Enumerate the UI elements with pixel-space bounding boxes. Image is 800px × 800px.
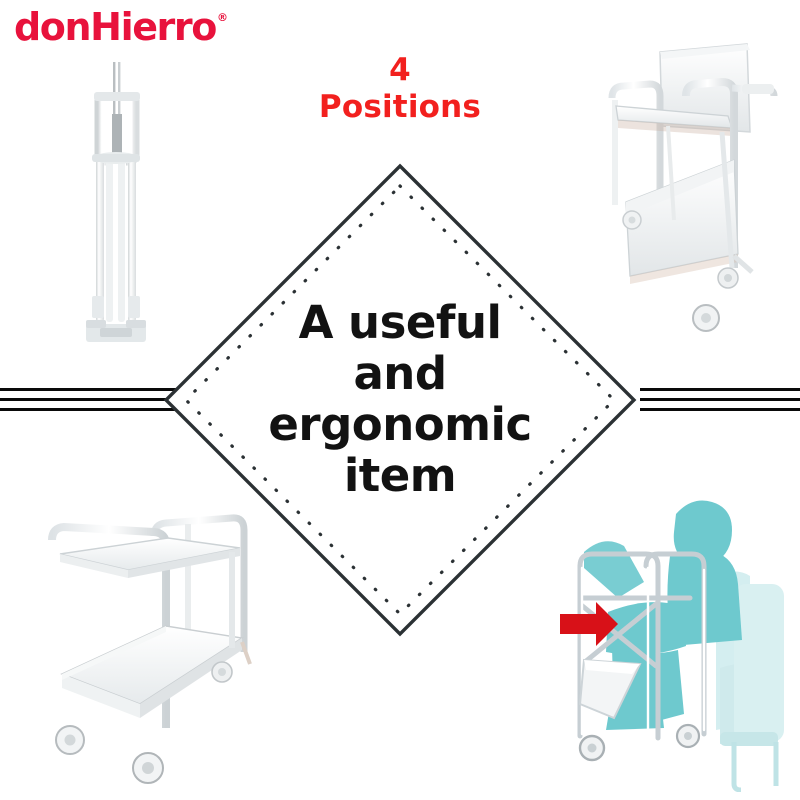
brand-logo: donHierro ® bbox=[14, 8, 228, 46]
semi-folded-cart-photo bbox=[582, 40, 800, 350]
brand-name-text: donHierro bbox=[14, 8, 216, 46]
rule-line bbox=[640, 408, 800, 411]
folded-cart-photo bbox=[52, 58, 182, 358]
badge-text-line-1: A useful bbox=[299, 298, 502, 349]
badge-text-line-4: item bbox=[344, 451, 456, 502]
rule-line bbox=[0, 388, 178, 391]
rule-line bbox=[0, 398, 178, 401]
registered-trademark-icon: ® bbox=[217, 12, 228, 23]
rule-line bbox=[640, 388, 800, 391]
in-use-scene-illustration bbox=[548, 492, 800, 792]
left-decorative-rules bbox=[0, 386, 178, 414]
rule-line bbox=[640, 398, 800, 401]
open-cart-photo bbox=[36, 492, 274, 788]
promo-poster: donHierro ® 4 Positions A useful and erg… bbox=[0, 0, 800, 800]
badge-text-line-2: and bbox=[353, 349, 446, 400]
badge-text-line-3: ergonomic bbox=[268, 400, 531, 451]
rule-line bbox=[0, 408, 178, 411]
right-decorative-rules bbox=[640, 386, 800, 414]
